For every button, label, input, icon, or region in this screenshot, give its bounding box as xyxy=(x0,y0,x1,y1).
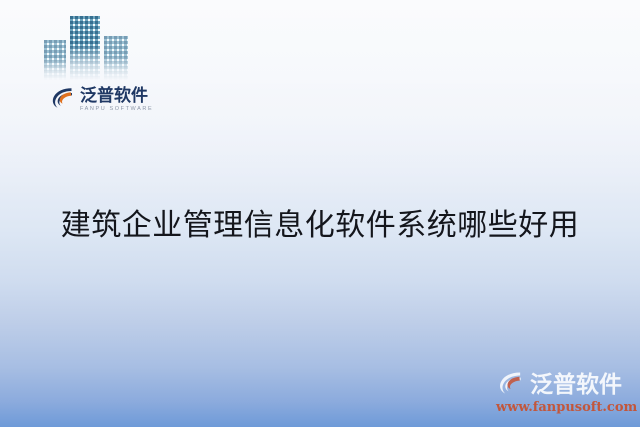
skyline-tower-left xyxy=(44,40,66,80)
skyline-tower-right xyxy=(104,36,128,80)
brand-name-en: FANPU SOFTWARE xyxy=(80,107,153,113)
watermark-url: www.fanpusoft.com xyxy=(496,400,636,415)
site-watermark: 泛普软件 www.fanpusoft.com xyxy=(496,371,636,419)
brand-name-cn: 泛普软件 xyxy=(80,88,153,105)
fanpu-swoosh-logo-icon xyxy=(496,369,526,402)
skyline-tower-center xyxy=(70,16,100,80)
headline-text: 建筑企业管理信息化软件系统哪些好用 xyxy=(0,206,640,246)
fanpu-swoosh-logo-icon xyxy=(50,85,76,116)
brand-wordmark: 泛普软件 FANPU SOFTWARE xyxy=(50,85,153,116)
promo-banner: 泛普软件 FANPU SOFTWARE 建筑企业管理信息化软件系统哪些好用 泛普… xyxy=(0,0,640,427)
watermark-name-cn: 泛普软件 xyxy=(530,374,622,397)
brand-logo: 泛普软件 FANPU SOFTWARE xyxy=(42,8,158,126)
